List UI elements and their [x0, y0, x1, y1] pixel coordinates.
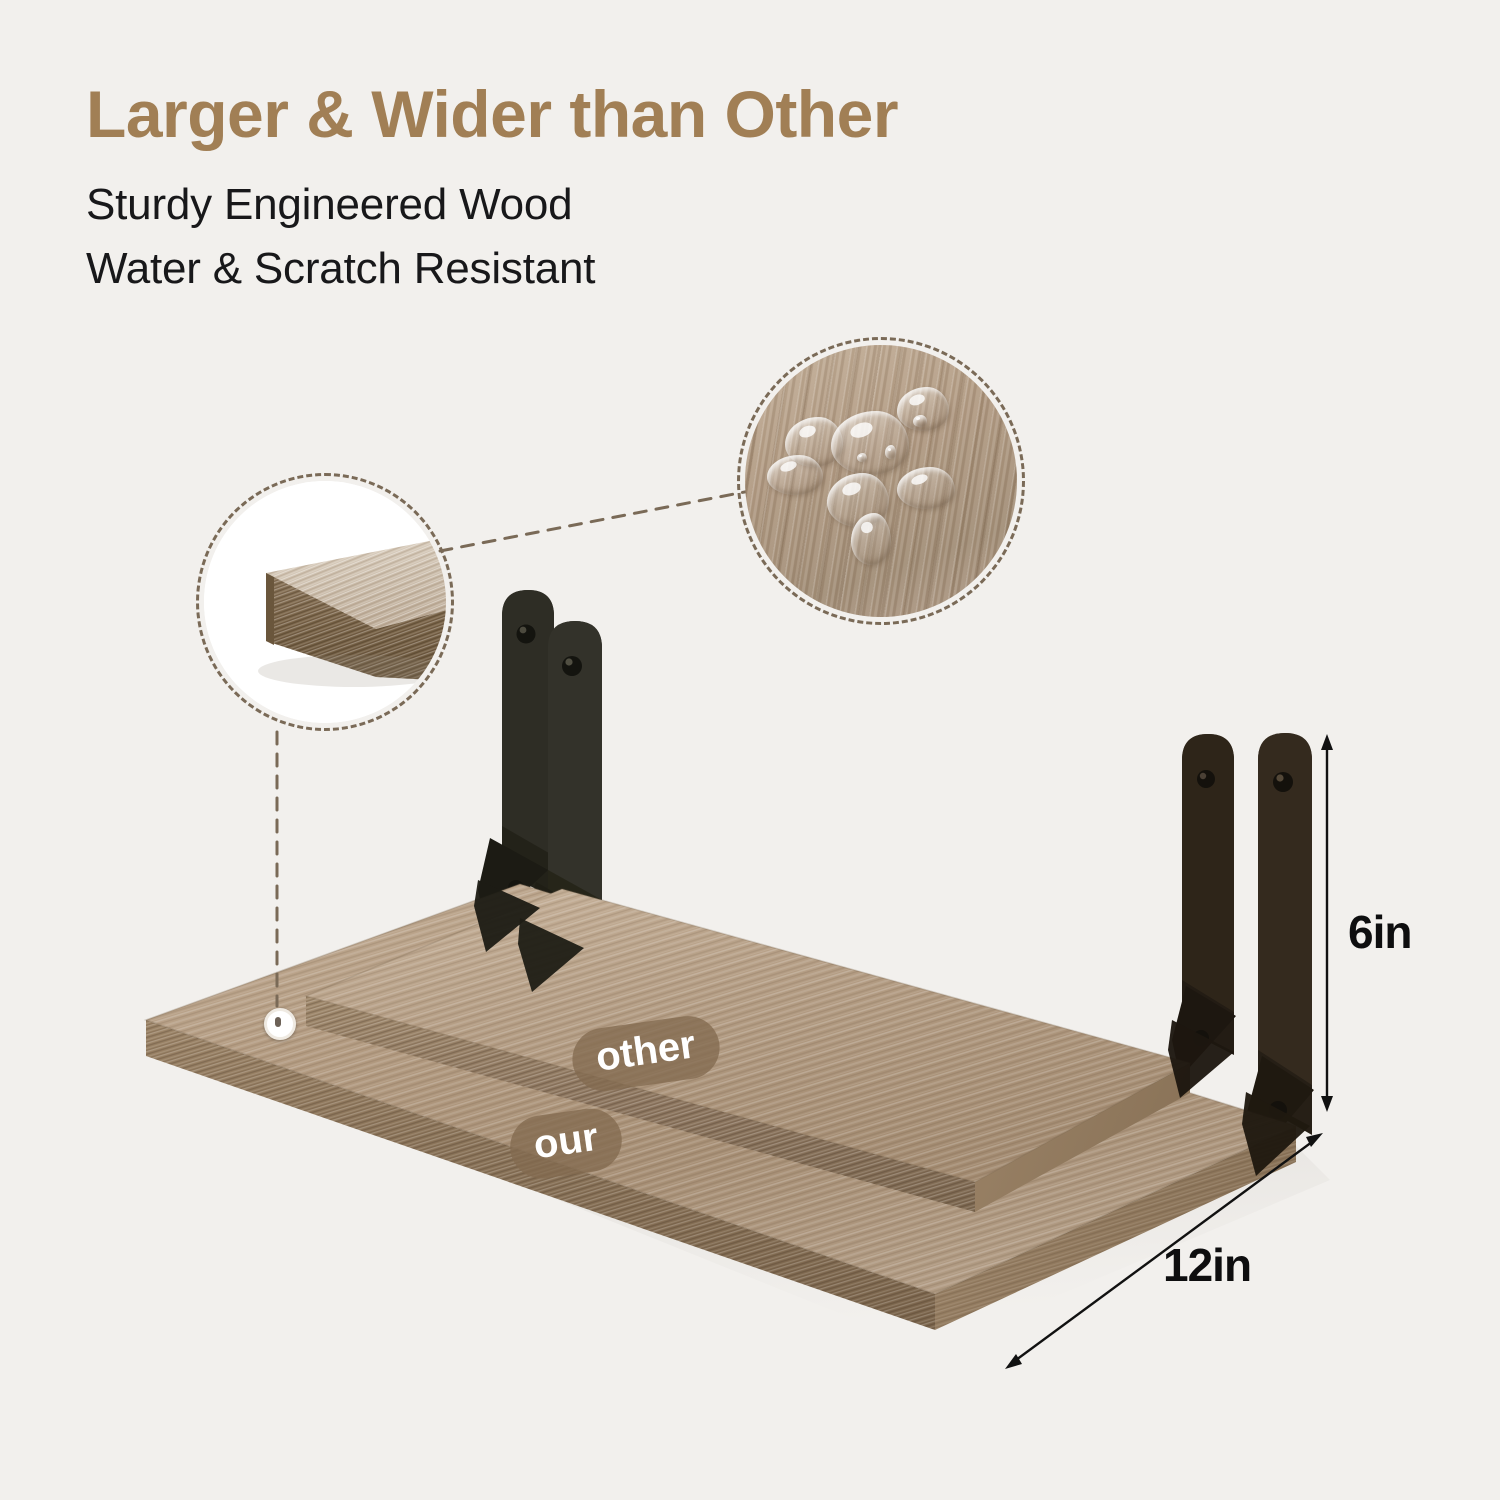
water-detail-image [745, 345, 1017, 617]
water-drop [851, 513, 891, 565]
water-drop [885, 445, 896, 459]
bracket-right-front [1246, 733, 1314, 1158]
edge-detail-image [204, 481, 446, 723]
dimension-height-label: 6in [1348, 905, 1411, 959]
water-drop [857, 453, 867, 462]
water-drop [767, 455, 823, 495]
water-detail-callout[interactable] [737, 337, 1025, 625]
product-infographic: Larger & Wider than Other Sturdy Enginee… [0, 0, 1500, 1500]
edge-detail-callout[interactable] [196, 473, 454, 731]
water-drop [913, 415, 927, 427]
water-drop [897, 467, 955, 509]
dimension-height-arrow[interactable] [1321, 734, 1333, 1112]
edge-marker-dot [264, 1008, 296, 1040]
product-illustration [0, 0, 1500, 1500]
bracket-left-rear [478, 590, 554, 928]
dimension-depth-label: 12in [1163, 1238, 1251, 1292]
edge-cross-section-graphic [204, 481, 446, 723]
